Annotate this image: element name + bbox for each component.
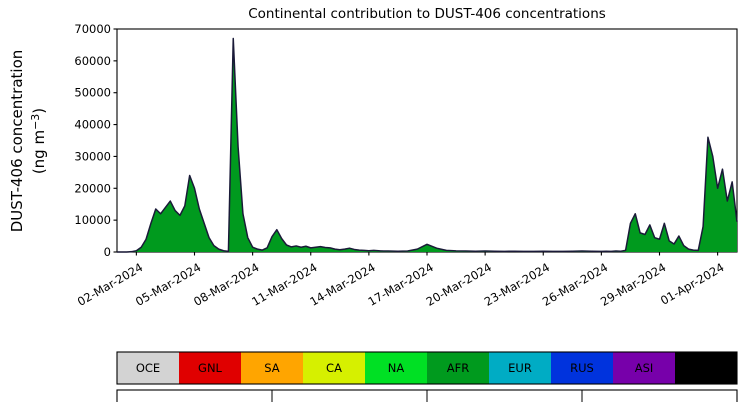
legend-label-sa: SA	[264, 361, 280, 375]
y-tick-label: 10000	[74, 213, 111, 227]
legend-label-afr: AFR	[447, 361, 469, 375]
y-tick-label: 60000	[74, 54, 111, 68]
legend-label-asi: ASI	[635, 361, 654, 375]
legend-label-eur: EUR	[508, 361, 532, 375]
y-tick-label: 50000	[74, 86, 111, 100]
y-tick-label: 20000	[74, 181, 111, 195]
legend-label-oce: OCE	[136, 361, 160, 375]
legend-label-gnl: GNL	[198, 361, 223, 375]
y-tick-label: 70000	[74, 22, 111, 36]
chart-title: Continental contribution to DUST-406 con…	[248, 6, 606, 22]
legend-label-na: NA	[388, 361, 405, 375]
figure-background	[0, 0, 748, 402]
dust-concentration-figure: Continental contribution to DUST-406 con…	[0, 0, 748, 402]
y-tick-label: 30000	[74, 149, 111, 163]
legend-label-rus: RUS	[570, 361, 594, 375]
y-axis-units-exponent: −3	[29, 114, 42, 130]
y-axis-units-open: (ng m	[30, 130, 48, 174]
y-tick-label: 40000	[74, 118, 111, 132]
legend-label-ca: CA	[326, 361, 342, 375]
y-tick-label: 0	[104, 245, 111, 259]
y-axis-title-line1: DUST-406 concentration	[8, 50, 26, 233]
y-axis-units-close: )	[30, 108, 48, 114]
legend-label-aus: AUS	[694, 361, 718, 375]
